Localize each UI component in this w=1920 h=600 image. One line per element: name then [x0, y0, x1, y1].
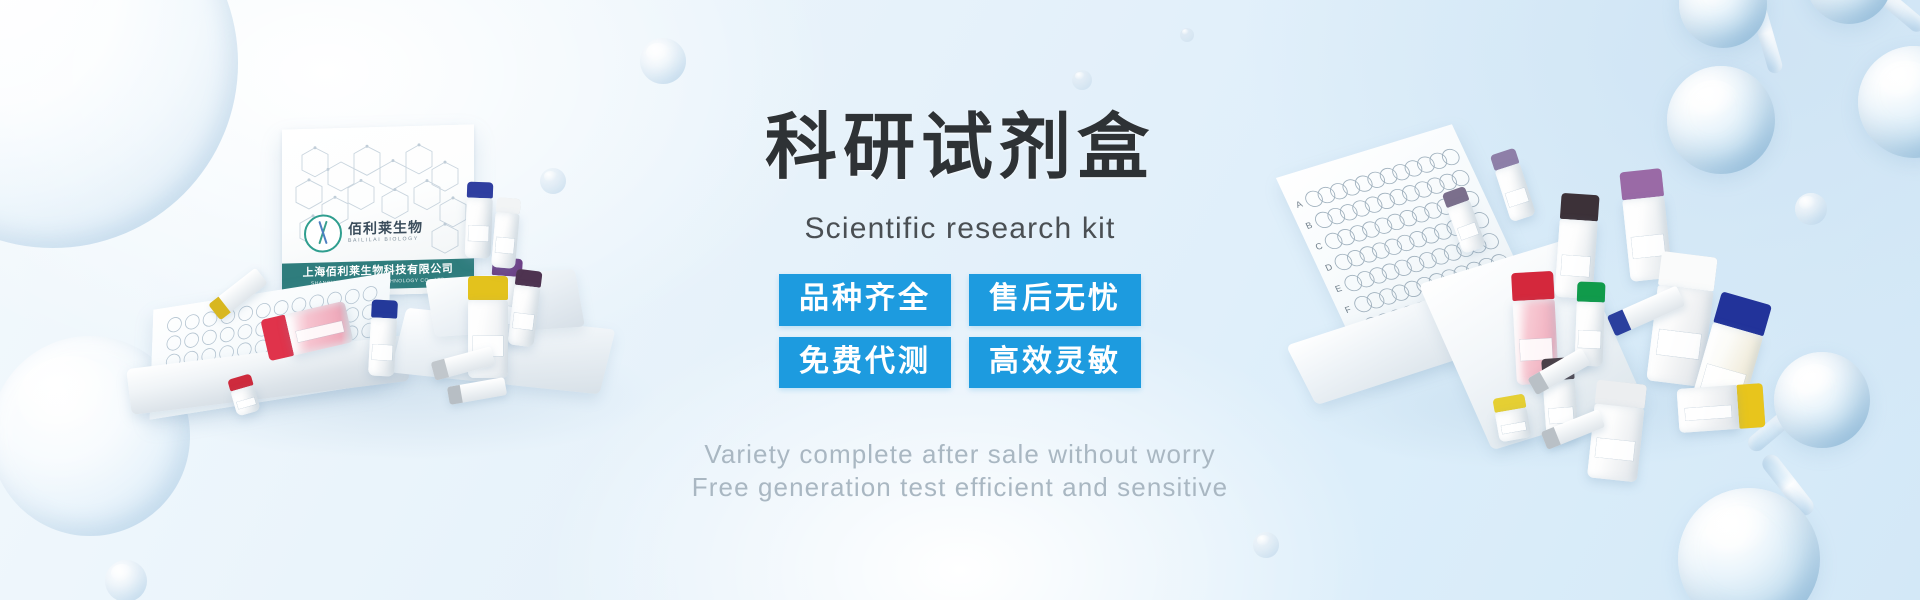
feature-badge[interactable]: 高效灵敏	[969, 337, 1141, 389]
page-title: 科研试剂盒	[765, 112, 1155, 184]
tagline: Variety complete after sale without worr…	[692, 438, 1228, 505]
tagline-line-2: Free generation test efficient and sensi…	[692, 471, 1228, 504]
feature-badge-list: 品种齐全 售后无忧 免费代测 高效灵敏	[779, 274, 1141, 388]
tagline-line-1: Variety complete after sale without worr…	[692, 438, 1228, 471]
banner-root: 佰利莱生物 BAILILAI BIOLOGY 上海佰利莱生物科技有限公司 SHA…	[0, 0, 1920, 600]
feature-badge[interactable]: 售后无忧	[969, 274, 1141, 326]
page-subtitle: Scientific research kit	[804, 214, 1115, 244]
banner-content: 科研试剂盒 Scientific research kit 品种齐全 售后无忧 …	[0, 0, 1920, 600]
feature-badge[interactable]: 免费代测	[779, 337, 951, 389]
feature-badge[interactable]: 品种齐全	[779, 274, 951, 326]
